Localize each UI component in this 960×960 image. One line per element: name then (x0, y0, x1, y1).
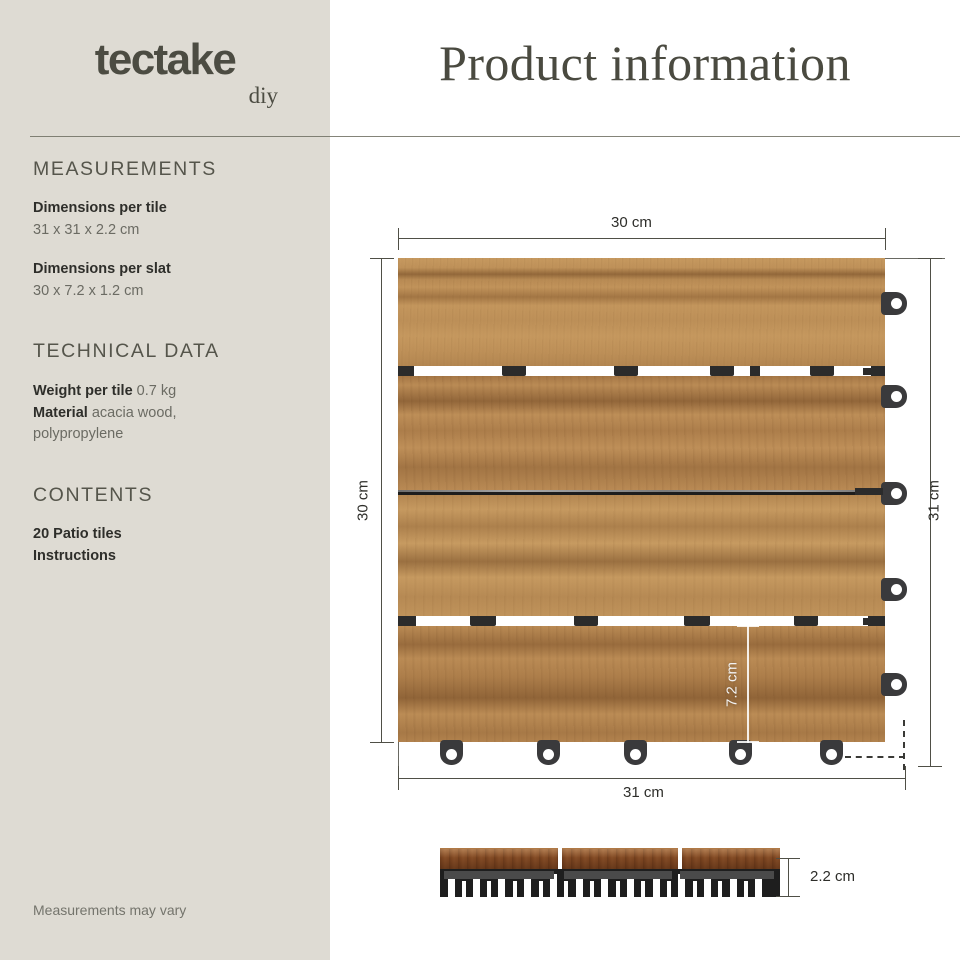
connector-tab (881, 578, 907, 601)
connector-stub (855, 488, 883, 495)
dimension-line-thickness (788, 858, 789, 896)
dimension-label-thickness: 2.2 cm (810, 868, 855, 885)
connector-tab (881, 292, 907, 315)
dimension-tick (737, 741, 759, 743)
connector-tab (820, 740, 843, 765)
connector-stub (863, 368, 883, 375)
patio-tile-side-profile (440, 848, 780, 900)
dimension-label-left-height: 30 cm (355, 471, 372, 531)
profile-wood-slat (440, 848, 558, 871)
product-information-sheet: tectake diy MEASUREMENTS Dimensions per … (0, 0, 960, 960)
dimension-tick (370, 258, 394, 259)
wood-slat (398, 495, 885, 616)
dimension-tick (776, 896, 800, 897)
connector-stub (863, 618, 883, 625)
dimension-guide (885, 258, 945, 259)
dimension-tick (776, 858, 800, 859)
dimension-tick (398, 228, 399, 250)
profile-plastic-base (440, 869, 780, 897)
dimension-guide (398, 742, 399, 772)
connector-tab (881, 482, 907, 505)
profile-wood-slat (562, 848, 678, 871)
connector-tab (881, 385, 907, 408)
slat-gap (398, 616, 885, 626)
dimension-line-top (398, 238, 885, 239)
dashed-guide-horizontal (845, 756, 905, 758)
dimension-line-slat-width (747, 625, 749, 743)
wood-slat (398, 626, 885, 742)
wood-slat (398, 376, 885, 490)
dimension-tick (885, 228, 886, 250)
slat-gap (398, 366, 885, 376)
dimension-tick (905, 766, 906, 790)
profile-wood-slat (682, 848, 780, 871)
dimension-label-right-height: 31 cm (926, 471, 943, 531)
dimension-tick (737, 625, 759, 627)
dashed-guide-vertical (903, 720, 905, 770)
dimension-tick (370, 742, 394, 743)
connector-tab (624, 740, 647, 765)
dimension-tick (918, 766, 942, 767)
tile-diagram: 30 cm 30 cm 31 cm 31 cm 7.2 cm (0, 0, 960, 960)
connector-tab (729, 740, 752, 765)
connector-tab (440, 740, 463, 765)
connector-tab (881, 673, 907, 696)
dimension-label-top-width: 30 cm (611, 214, 652, 231)
patio-tile-top-view (398, 258, 885, 742)
dimension-line-bottom (398, 778, 905, 779)
connector-tab (537, 740, 560, 765)
dimension-line-left (381, 258, 382, 742)
dimension-label-bottom-width: 31 cm (623, 784, 664, 801)
dimension-label-slat-width: 7.2 cm (724, 655, 741, 715)
wood-slat (398, 258, 885, 366)
